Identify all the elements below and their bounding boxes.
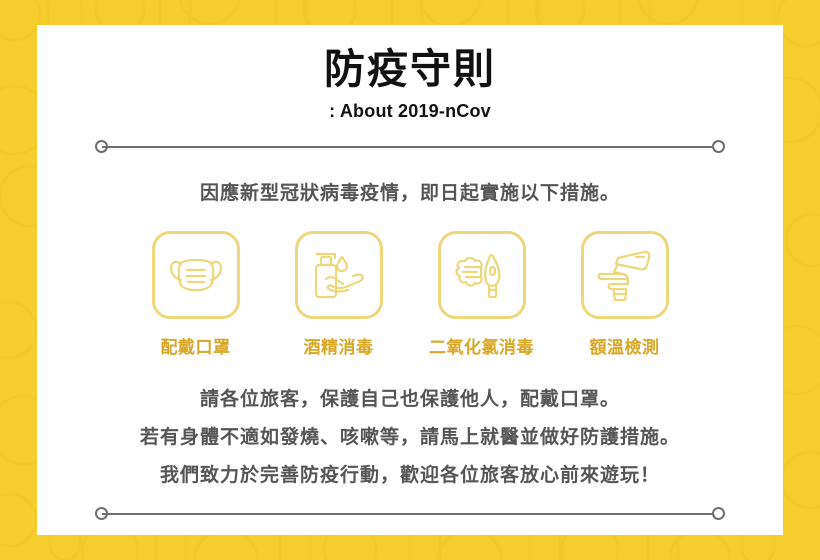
divider-knob-right-icon xyxy=(712,140,725,153)
measure-item: 酒精消毒 xyxy=(295,231,383,358)
measure-label: 二氧化氯消毒 xyxy=(429,333,534,358)
note-line: 請各位旅客，保護自己也保護他人，配戴口罩。 xyxy=(200,384,620,411)
measure-icon-box xyxy=(295,231,383,319)
measure-label: 酒精消毒 xyxy=(304,333,374,358)
hand-sanitizer-icon xyxy=(310,247,368,303)
divider-rule xyxy=(102,513,718,515)
divider-bottom xyxy=(95,507,725,521)
measures-list: 配戴口罩 xyxy=(152,231,669,358)
notes-list: 請各位旅客，保護自己也保護他人，配戴口罩。 若有身體不適如發燒、咳嗽等，請馬上就… xyxy=(140,384,680,487)
spray-bottle-icon xyxy=(453,247,511,303)
measure-icon-box xyxy=(152,231,240,319)
face-mask-icon xyxy=(167,250,225,300)
measure-icon-box xyxy=(438,231,526,319)
page-subtitle: : About 2019-nCov xyxy=(329,101,491,122)
poster-root: 防疫守則 : About 2019-nCov 因應新型冠狀病毒疫情，即日起實施以… xyxy=(0,0,820,560)
measure-label: 配戴口罩 xyxy=(161,333,231,358)
measure-item: 二氧化氯消毒 xyxy=(438,231,526,358)
note-line: 若有身體不適如發燒、咳嗽等，請馬上就醫並做好防護措施。 xyxy=(140,422,680,449)
divider-rule xyxy=(102,146,718,148)
page-title: 防疫守則 xyxy=(324,47,496,93)
content-card: 防疫守則 : About 2019-nCov 因應新型冠狀病毒疫情，即日起實施以… xyxy=(37,25,783,535)
note-line: 我們致力於完善防疫行動，歡迎各位旅客放心前來遊玩！ xyxy=(160,460,660,487)
measure-item: 配戴口罩 xyxy=(152,231,240,358)
divider-knob-right-icon xyxy=(712,507,725,520)
measure-icon-box xyxy=(581,231,669,319)
intro-text: 因應新型冠狀病毒疫情，即日起實施以下措施。 xyxy=(200,178,620,205)
measure-label: 額溫檢測 xyxy=(590,333,660,358)
forehead-thermometer-icon xyxy=(596,248,654,302)
measure-item: 額溫檢測 xyxy=(581,231,669,358)
divider-top xyxy=(95,140,725,154)
